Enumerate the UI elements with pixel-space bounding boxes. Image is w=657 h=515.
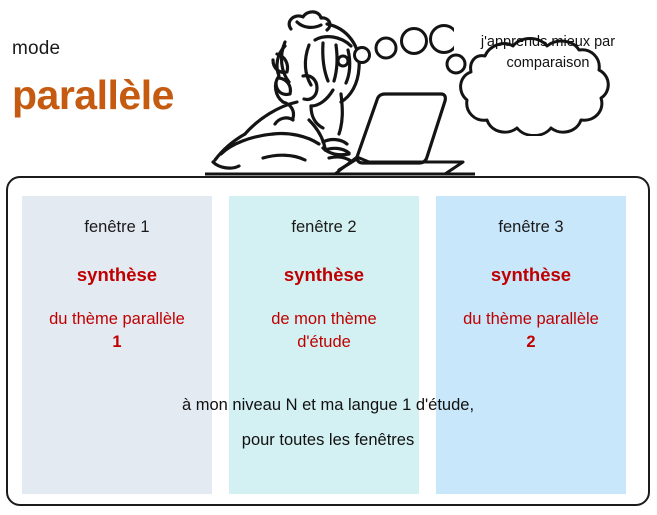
window-2-desc-line-2: d'étude <box>297 333 351 351</box>
thought-dots-icon <box>334 22 454 70</box>
window-column-3[interactable]: fenêtre 3 synthèse du thème parallèle 2 <box>436 196 626 494</box>
window-1-desc-line-2: 1 <box>112 333 121 351</box>
window-3-title: fenêtre 3 <box>436 218 626 237</box>
window-column-1[interactable]: fenêtre 1 synthèse du thème parallèle 1 <box>22 196 212 494</box>
window-3-synthese-label: synthèse <box>436 264 626 286</box>
window-1-desc-line-1: du thème parallèle <box>49 310 185 328</box>
window-2-synthese-label: synthèse <box>229 264 419 286</box>
window-3-desc-line-2: 2 <box>526 333 535 351</box>
windows-columns: fenêtre 1 synthèse du thème parallèle 1 … <box>22 196 626 494</box>
header: mode parallèle <box>0 0 657 176</box>
mode-name-title: parallèle <box>12 72 174 119</box>
window-column-2[interactable]: fenêtre 2 synthèse de mon thème d'étude <box>229 196 419 494</box>
thought-bubble-text: j'apprends mieux par comparaison <box>472 32 624 74</box>
window-1-synthese-label: synthèse <box>22 264 212 286</box>
window-1-title: fenêtre 1 <box>22 218 212 237</box>
window-2-desc-line-1: de mon thème <box>271 310 376 328</box>
window-3-desc-line-1: du thème parallèle <box>463 310 599 328</box>
mode-label: mode <box>12 38 60 60</box>
window-3-description: du thème parallèle 2 <box>436 308 626 354</box>
window-1-description: du thème parallèle 1 <box>22 308 212 354</box>
window-2-title: fenêtre 2 <box>229 218 419 237</box>
window-2-description: de mon thème d'étude <box>229 308 419 354</box>
